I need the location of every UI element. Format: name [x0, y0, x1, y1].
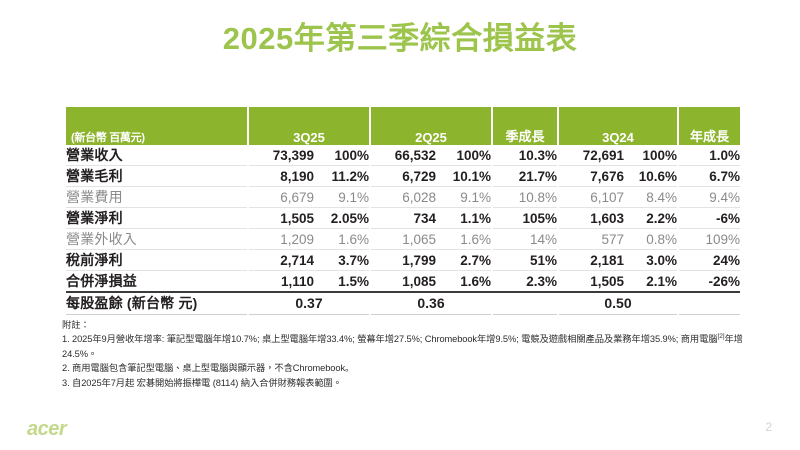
header-col-yoy-growth[interactable]: 年成長 — [678, 107, 740, 145]
cell-2q25-pct: 10.1% — [436, 166, 492, 187]
cell-3q24-value: 2,181 — [558, 250, 624, 271]
cell-2q25-value: 734 — [370, 208, 436, 229]
footnote-1: 1. 2025年9月營收年增率: 筆記型電腦年增10.7%; 桌上型電腦年增33… — [62, 332, 762, 361]
cell-2q25-pct: 1.6% — [436, 271, 492, 293]
page-title: 2025年第三季綜合損益表 — [0, 22, 800, 56]
cell-yoy: 109% — [678, 229, 740, 250]
cell-2q25-value: 1,085 — [370, 271, 436, 293]
row-label: 營業外收入 — [66, 229, 248, 250]
header-col-2q25[interactable]: 2Q25 — [370, 107, 492, 145]
cell-qoq: 14% — [492, 229, 558, 250]
row-label: 稅前淨利 — [66, 250, 248, 271]
cell-2q25-pct: 2.7% — [436, 250, 492, 271]
cell-3q24-pct: 2.2% — [624, 208, 678, 229]
row-label: 營業收入 — [66, 145, 248, 166]
cell-qoq: 10.3% — [492, 145, 558, 166]
table-row[interactable]: 合併淨損益 1,110 1.5% 1,085 1.6% 2.3% 1,505 2… — [66, 271, 740, 293]
header-col-qoq-growth[interactable]: 季成長 — [492, 107, 558, 145]
cell-2q25-value: 6,729 — [370, 166, 436, 187]
cell-yoy: 24% — [678, 250, 740, 271]
header-col-3q24[interactable]: 3Q24 — [558, 107, 678, 145]
acer-logo: acer — [27, 418, 66, 441]
cell-3q24-pct: 8.4% — [624, 187, 678, 208]
row-label: 營業費用 — [66, 187, 248, 208]
cell-2q25-value: 6,028 — [370, 187, 436, 208]
cell-qoq: 21.7% — [492, 166, 558, 187]
cell-3q25-pct: 2.05% — [314, 208, 370, 229]
table-row-eps[interactable]: 每股盈餘 (新台幣 元) 0.37 0.36 0.50 — [66, 292, 740, 314]
table-row[interactable]: 營業外收入 1,209 1.6% 1,065 1.6% 14% 577 0.8%… — [66, 229, 740, 250]
cell-3q24-pct: 100% — [624, 145, 678, 166]
header-unit-label: (新台幣 百萬元) — [66, 107, 248, 145]
table-body: 營業收入 73,399 100% 66,532 100% 10.3% 72,69… — [66, 145, 740, 314]
row-label: 營業毛利 — [66, 166, 248, 187]
cell-2q25-pct: 100% — [436, 145, 492, 166]
cell-qoq: 2.3% — [492, 271, 558, 293]
cell-3q25-pct: 9.1% — [314, 187, 370, 208]
footnote-1-text-a: 1. 2025年9月營收年增率: 筆記型電腦年增10.7%; 桌上型電腦年增33… — [62, 335, 718, 345]
table-row[interactable]: 營業費用 6,679 9.1% 6,028 9.1% 10.8% 6,107 8… — [66, 187, 740, 208]
cell-eps-2q25: 0.36 — [370, 292, 492, 314]
row-label: 營業淨利 — [66, 208, 248, 229]
footnote-2: 2. 商用電腦包含筆記型電腦、桌上型電腦與顯示器，不含Chromebook。 — [62, 361, 762, 375]
header-col-3q25[interactable]: 3Q25 — [248, 107, 370, 145]
cell-3q25-value: 1,110 — [248, 271, 314, 293]
footnote-3: 3. 自2025年7月起 宏碁開始將振樺電 (8114) 納入合併財務報表範圍。 — [62, 376, 762, 390]
cell-3q25-pct: 100% — [314, 145, 370, 166]
table-row[interactable]: 營業毛利 8,190 11.2% 6,729 10.1% 21.7% 7,676… — [66, 166, 740, 187]
cell-eps-3q25: 0.37 — [248, 292, 370, 314]
cell-3q24-pct: 3.0% — [624, 250, 678, 271]
cell-3q25-pct: 11.2% — [314, 166, 370, 187]
cell-3q24-value: 7,676 — [558, 166, 624, 187]
cell-2q25-pct: 1.1% — [436, 208, 492, 229]
cell-3q25-value: 73,399 — [248, 145, 314, 166]
cell-yoy: 6.7% — [678, 166, 740, 187]
cell-3q25-value: 1,209 — [248, 229, 314, 250]
page-number: 2 — [765, 420, 772, 434]
cell-eps-qoq-blank — [492, 292, 558, 314]
cell-3q25-pct: 1.5% — [314, 271, 370, 293]
cell-yoy: -6% — [678, 208, 740, 229]
cell-3q25-pct: 1.6% — [314, 229, 370, 250]
cell-2q25-value: 66,532 — [370, 145, 436, 166]
cell-qoq: 10.8% — [492, 187, 558, 208]
cell-qoq: 105% — [492, 208, 558, 229]
cell-3q24-value: 6,107 — [558, 187, 624, 208]
cell-3q25-value: 2,714 — [248, 250, 314, 271]
cell-2q25-value: 1,065 — [370, 229, 436, 250]
cell-3q24-pct: 0.8% — [624, 229, 678, 250]
row-label: 合併淨損益 — [66, 271, 248, 293]
cell-eps-yoy-blank — [678, 292, 740, 314]
footnote-heading: 附註： — [62, 318, 762, 332]
cell-2q25-value: 1,799 — [370, 250, 436, 271]
cell-3q24-value: 72,691 — [558, 145, 624, 166]
cell-eps-3q24: 0.50 — [558, 292, 678, 314]
cell-3q24-value: 1,505 — [558, 271, 624, 293]
cell-yoy: 1.0% — [678, 145, 740, 166]
cell-3q25-value: 1,505 — [248, 208, 314, 229]
cell-yoy: -26% — [678, 271, 740, 293]
footnotes: 附註： 1. 2025年9月營收年增率: 筆記型電腦年增10.7%; 桌上型電腦… — [62, 318, 762, 390]
cell-3q25-value: 6,679 — [248, 187, 314, 208]
cell-3q24-pct: 2.1% — [624, 271, 678, 293]
table-row[interactable]: 營業淨利 1,505 2.05% 734 1.1% 105% 1,603 2.2… — [66, 208, 740, 229]
cell-3q25-value: 8,190 — [248, 166, 314, 187]
cell-2q25-pct: 9.1% — [436, 187, 492, 208]
cell-yoy: 9.4% — [678, 187, 740, 208]
cell-3q25-pct: 3.7% — [314, 250, 370, 271]
cell-3q24-pct: 10.6% — [624, 166, 678, 187]
row-label-eps: 每股盈餘 (新台幣 元) — [66, 292, 248, 314]
cell-2q25-pct: 1.6% — [436, 229, 492, 250]
income-statement-table: (新台幣 百萬元) 3Q25 2Q25 季成長 3Q24 年成長 營業收入 73… — [66, 107, 740, 315]
cell-3q24-value: 1,603 — [558, 208, 624, 229]
table-row[interactable]: 稅前淨利 2,714 3.7% 1,799 2.7% 51% 2,181 3.0… — [66, 250, 740, 271]
cell-qoq: 51% — [492, 250, 558, 271]
table-row[interactable]: 營業收入 73,399 100% 66,532 100% 10.3% 72,69… — [66, 145, 740, 166]
table-header-row: (新台幣 百萬元) 3Q25 2Q25 季成長 3Q24 年成長 — [66, 107, 740, 145]
cell-3q24-value: 577 — [558, 229, 624, 250]
